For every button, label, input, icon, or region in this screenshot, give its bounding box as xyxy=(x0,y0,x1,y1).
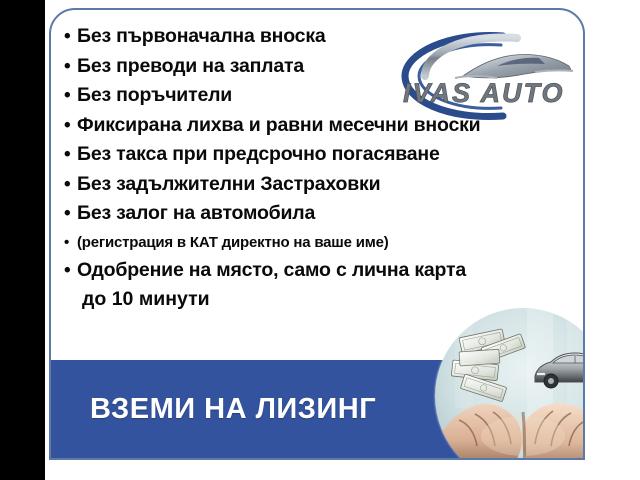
bullet-dot-icon: • xyxy=(64,256,77,286)
bullet-dot-icon: • xyxy=(64,111,77,141)
feature-bullet-item: •Без залог на автомобила xyxy=(64,199,584,229)
feature-bullet-text: Без такса при предсрочно погасяване xyxy=(77,140,584,170)
ivas-auto-logo: IVAS AUTO xyxy=(385,26,581,122)
feature-bullet-item: •(регистрация в КАТ директно на ваше име… xyxy=(64,229,584,256)
banner-canvas: •Без първоначална вноска•Без преводи на … xyxy=(0,0,640,480)
letterbox-left xyxy=(0,0,45,480)
feature-bullet-text: (регистрация в КАТ директно на ваше име) xyxy=(77,229,584,256)
feature-bullet-text: Без задължителни Застраховки xyxy=(77,170,584,200)
feature-bullet-text: Без залог на автомобила xyxy=(77,199,584,229)
bullet-dot-icon: • xyxy=(64,22,77,52)
feature-bullet-text: Одобрение на място, само с лична карта xyxy=(77,256,584,286)
feature-bullet-item: •Без задължителни Застраховки xyxy=(64,170,584,200)
bullet-dot-icon: • xyxy=(64,52,77,82)
bullet-dot-icon: • xyxy=(64,199,77,229)
hands-holding-money-and-car-photo xyxy=(435,308,585,460)
bullet-dot-icon: • xyxy=(64,140,77,170)
bullet-dot-icon: • xyxy=(64,81,77,111)
svg-text:IVAS AUTO: IVAS AUTO xyxy=(403,78,565,108)
offer-card: •Без първоначална вноска•Без преводи на … xyxy=(49,8,585,460)
banner-headline: ВЗЕМИ НА ЛИЗИНГ xyxy=(90,393,376,426)
bullet-dot-icon: • xyxy=(64,170,77,200)
feature-bullet-item: •Одобрение на място, само с лична карта xyxy=(64,256,584,286)
bullet-dot-icon: • xyxy=(64,229,77,256)
feature-bullet-item: •Без такса при предсрочно погасяване xyxy=(64,140,584,170)
